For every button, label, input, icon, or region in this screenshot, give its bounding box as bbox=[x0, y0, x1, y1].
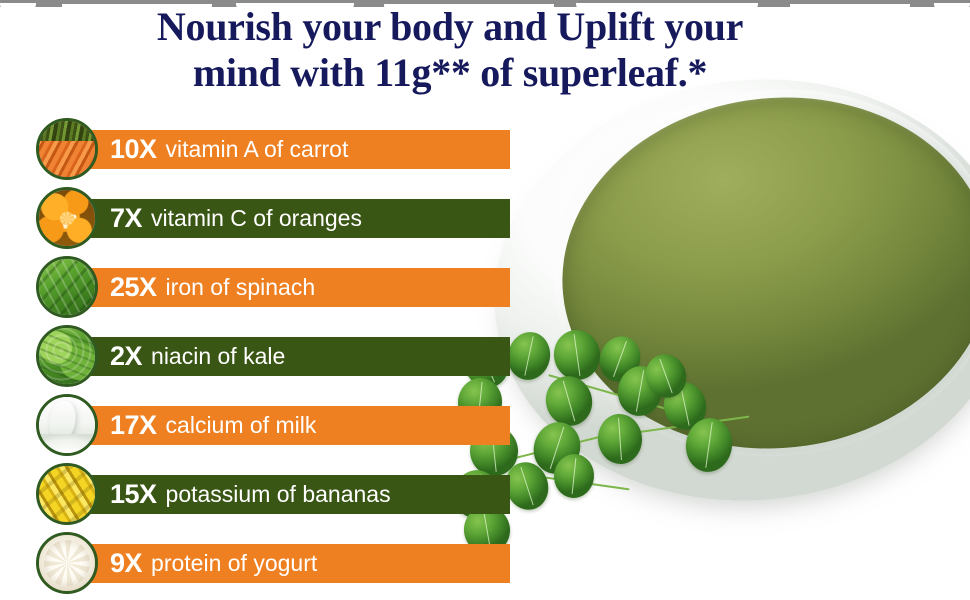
fact-row: 10X vitamin A of carrot bbox=[36, 118, 510, 180]
fact-row: 7X vitamin C of oranges bbox=[36, 187, 510, 249]
fact-label: calcium of milk bbox=[166, 414, 317, 437]
fact-bar: 15X potassium of bananas bbox=[70, 475, 510, 514]
milk-thumbnail-icon bbox=[36, 394, 98, 456]
yogurt-thumbnail-icon bbox=[36, 532, 98, 594]
headline-line-1: Nourish your body and Uplift your bbox=[0, 4, 900, 50]
fact-label: iron of spinach bbox=[166, 276, 316, 299]
orange-thumbnail-icon bbox=[36, 187, 98, 249]
fact-row: 15X potassium of bananas bbox=[36, 463, 510, 525]
fact-label: protein of yogurt bbox=[151, 552, 317, 575]
fact-label: vitamin C of oranges bbox=[151, 207, 362, 230]
headline-line-2: mind with 11g** of superleaf.* bbox=[0, 50, 900, 96]
fact-bar: 9X protein of yogurt bbox=[70, 544, 510, 583]
fact-row: 9X protein of yogurt bbox=[36, 532, 510, 594]
spinach-thumbnail-icon bbox=[36, 256, 98, 318]
fact-label: vitamin A of carrot bbox=[166, 138, 349, 161]
fact-multiplier: 15X bbox=[110, 481, 157, 508]
fact-label: potassium of bananas bbox=[166, 483, 391, 506]
fact-row: 25X iron of spinach bbox=[36, 256, 510, 318]
fact-multiplier: 10X bbox=[110, 136, 157, 163]
product-infographic-banner: Nourish your body and Uplift your mind w… bbox=[0, 0, 970, 600]
fact-bar: 25X iron of spinach bbox=[70, 268, 510, 307]
fact-bar: 7X vitamin C of oranges bbox=[70, 199, 510, 238]
fact-multiplier: 17X bbox=[110, 412, 157, 439]
fact-row: 2X niacin of kale bbox=[36, 325, 510, 387]
fact-row: 17X calcium of milk bbox=[36, 394, 510, 456]
carrot-thumbnail-icon bbox=[36, 118, 98, 180]
fact-bar: 10X vitamin A of carrot bbox=[70, 130, 510, 169]
fact-bar: 17X calcium of milk bbox=[70, 406, 510, 445]
fact-multiplier: 9X bbox=[110, 550, 142, 577]
fact-multiplier: 7X bbox=[110, 205, 142, 232]
banana-thumbnail-icon bbox=[36, 463, 98, 525]
headline: Nourish your body and Uplift your mind w… bbox=[0, 4, 900, 96]
fact-multiplier: 25X bbox=[110, 274, 157, 301]
fact-bar: 2X niacin of kale bbox=[70, 337, 510, 376]
kale-thumbnail-icon bbox=[36, 325, 98, 387]
fact-label: niacin of kale bbox=[151, 345, 285, 368]
fact-multiplier: 2X bbox=[110, 343, 142, 370]
